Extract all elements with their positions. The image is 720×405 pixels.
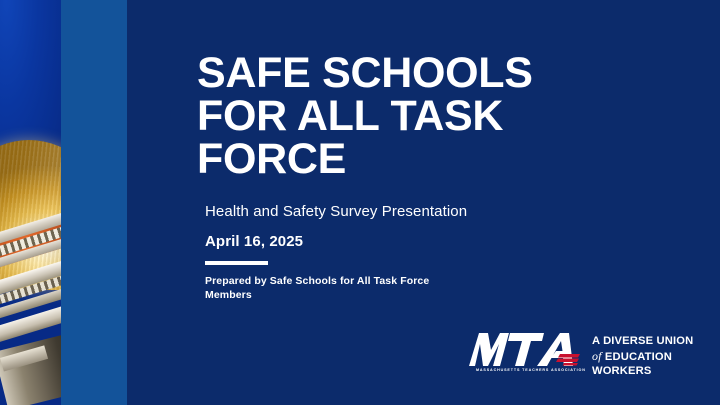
tagline-line-1: A DIVERSE UNION: [592, 334, 693, 349]
title-rule: [205, 261, 268, 265]
mta-logo: MASSACHUSETTS TEACHERS ASSOCIATION A DIV…: [462, 332, 702, 388]
state-house-photo: [0, 0, 61, 405]
logo-divider: [582, 336, 584, 380]
presentation-title-slide: SAFE SCHOOLS FOR ALL TASK FORCE Health a…: [0, 0, 720, 405]
accent-blue-bar: [61, 0, 127, 405]
mta-tagline: A DIVERSE UNION of EDUCATION WORKERS: [592, 334, 693, 379]
tagline-line-2: of EDUCATION: [592, 349, 693, 365]
mta-logo-mark: MASSACHUSETTS TEACHERS ASSOCIATION: [462, 332, 580, 384]
tagline-of: of: [592, 349, 602, 363]
tagline-line-3: WORKERS: [592, 364, 693, 379]
mta-letterforms-icon: [462, 330, 580, 370]
tagline-education: EDUCATION: [605, 351, 672, 363]
page-title: SAFE SCHOOLS FOR ALL TASK FORCE: [197, 52, 617, 181]
slide-subtitle: Health and Safety Survey Presentation: [205, 203, 467, 220]
prepared-by-text: Prepared by Safe Schools for All Task Fo…: [205, 274, 475, 302]
mta-association-name: MASSACHUSETTS TEACHERS ASSOCIATION: [476, 368, 582, 372]
slide-date: April 16, 2025: [205, 233, 303, 250]
